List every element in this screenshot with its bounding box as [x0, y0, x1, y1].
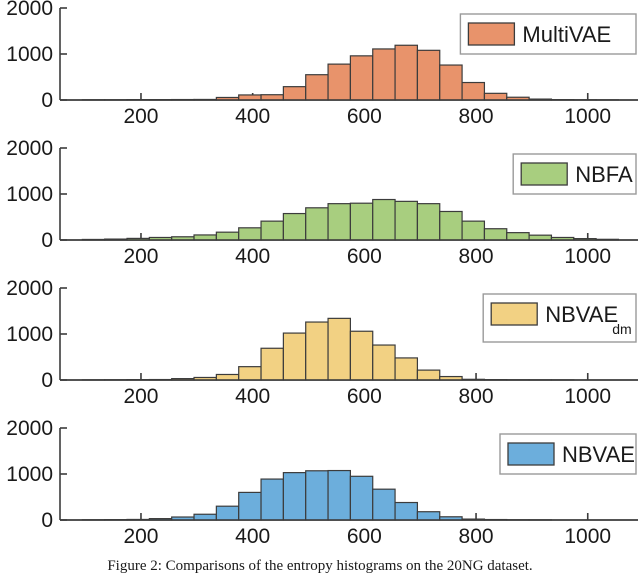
chart-svg: 0100020002004006008001000NBFA [0, 140, 640, 280]
histogram-bar [373, 200, 395, 240]
y-tick-label: 2000 [6, 280, 53, 300]
histogram-bar [328, 471, 350, 520]
x-tick-label: 200 [123, 105, 158, 128]
histogram-bar [261, 479, 283, 520]
x-tick-label: 800 [459, 245, 494, 268]
chart-legend: NBVAEdm [483, 294, 636, 342]
chart-svg: 0100020002004006008001000MultiVAE [0, 0, 640, 140]
y-tick-label: 2000 [6, 0, 53, 20]
x-tick-label: 600 [347, 525, 382, 548]
histogram-bar [350, 331, 372, 380]
histogram-bar [283, 87, 305, 100]
x-tick-label: 200 [123, 385, 158, 408]
histogram-bar [395, 201, 417, 240]
histogram-bar [306, 75, 328, 100]
histogram-bar [306, 322, 328, 380]
histogram-bar [239, 492, 261, 520]
histogram-bar [306, 471, 328, 520]
histogram-bar [417, 50, 439, 100]
subplot-multivae: 0100020002004006008001000MultiVAE [0, 0, 640, 140]
y-tick-label: 0 [41, 369, 53, 392]
legend-color-swatch [468, 23, 514, 45]
subplot-nbvae: 0100020002004006008001000NBVAE [0, 420, 640, 560]
histogram-bar [462, 83, 484, 100]
x-tick-label: 200 [123, 525, 158, 548]
x-tick-label: 600 [347, 385, 382, 408]
x-tick-label: 400 [235, 385, 270, 408]
histogram-bar [239, 228, 261, 240]
histogram-bar [373, 489, 395, 520]
histogram-bar [328, 64, 350, 100]
y-tick-label: 2000 [6, 140, 53, 160]
bar-series [82, 471, 551, 520]
legend-color-swatch [491, 303, 537, 325]
histogram-bar [216, 374, 238, 380]
histogram-bar [350, 476, 372, 520]
x-tick-label: 800 [459, 385, 494, 408]
histogram-bar [306, 208, 328, 240]
histogram-bar [216, 506, 238, 520]
y-tick-label: 1000 [6, 183, 53, 206]
histogram-bar [484, 93, 506, 100]
x-tick-label: 1000 [564, 385, 611, 408]
chart-legend: MultiVAE [460, 14, 636, 54]
legend-color-swatch [521, 163, 567, 185]
histogram-bar [283, 214, 305, 240]
histogram-bar [395, 358, 417, 380]
x-tick-label: 600 [347, 105, 382, 128]
histogram-bar [395, 45, 417, 100]
histogram-bar [417, 370, 439, 380]
legend-label: MultiVAE [522, 22, 611, 47]
histogram-bar [328, 204, 350, 240]
x-tick-label: 1000 [564, 105, 611, 128]
histogram-bar [350, 56, 372, 100]
x-tick-label: 400 [235, 105, 270, 128]
chart-svg: 0100020002004006008001000NBVAEdm [0, 280, 640, 420]
y-tick-label: 0 [41, 229, 53, 252]
histogram-bar [283, 333, 305, 380]
x-tick-label: 200 [123, 245, 158, 268]
legend-label: NBVAE [562, 442, 635, 467]
y-tick-label: 1000 [6, 43, 53, 66]
y-tick-label: 0 [41, 89, 53, 112]
histogram-bar [462, 221, 484, 240]
histogram-bar [417, 512, 439, 520]
histogram-bar [440, 211, 462, 240]
y-tick-label: 2000 [6, 420, 53, 440]
chart-legend: NBFA [513, 154, 636, 194]
histogram-bar [283, 473, 305, 520]
histogram-bar [350, 203, 372, 240]
x-tick-label: 600 [347, 245, 382, 268]
x-tick-label: 800 [459, 105, 494, 128]
x-tick-label: 1000 [564, 245, 611, 268]
subplot-nbfa: 0100020002004006008001000NBFA [0, 140, 640, 280]
histogram-bar [194, 514, 216, 520]
y-tick-label: 0 [41, 509, 53, 532]
y-tick-label: 1000 [6, 323, 53, 346]
figure-caption: Figure 2: Comparisons of the entropy his… [0, 558, 640, 575]
y-tick-label: 1000 [6, 463, 53, 486]
legend-label: NBVAE [545, 302, 618, 327]
histogram-bar [373, 345, 395, 380]
histogram-bar [395, 503, 417, 520]
histogram-bar [216, 232, 238, 240]
x-tick-label: 400 [235, 525, 270, 548]
histogram-bar [261, 348, 283, 380]
histogram-bar [417, 204, 439, 240]
legend-color-swatch [508, 443, 554, 465]
subplot-nbvae-dm: 0100020002004006008001000NBVAEdm [0, 280, 640, 420]
histogram-bar [328, 318, 350, 380]
histogram-bar [373, 49, 395, 100]
bar-series [82, 200, 618, 240]
chart-svg: 0100020002004006008001000NBVAE [0, 420, 640, 560]
figure-container: 0100020002004006008001000MultiVAE 010002… [0, 0, 640, 580]
legend-label: NBFA [575, 162, 633, 187]
x-tick-label: 800 [459, 525, 494, 548]
histogram-bar [507, 233, 529, 240]
x-tick-label: 400 [235, 245, 270, 268]
histogram-bar [484, 229, 506, 240]
histogram-bar [440, 65, 462, 100]
histogram-bar [261, 221, 283, 240]
legend-label-subscript: dm [612, 321, 631, 337]
x-tick-label: 1000 [564, 525, 611, 548]
chart-legend: NBVAE [500, 434, 636, 474]
histogram-bar [239, 367, 261, 380]
